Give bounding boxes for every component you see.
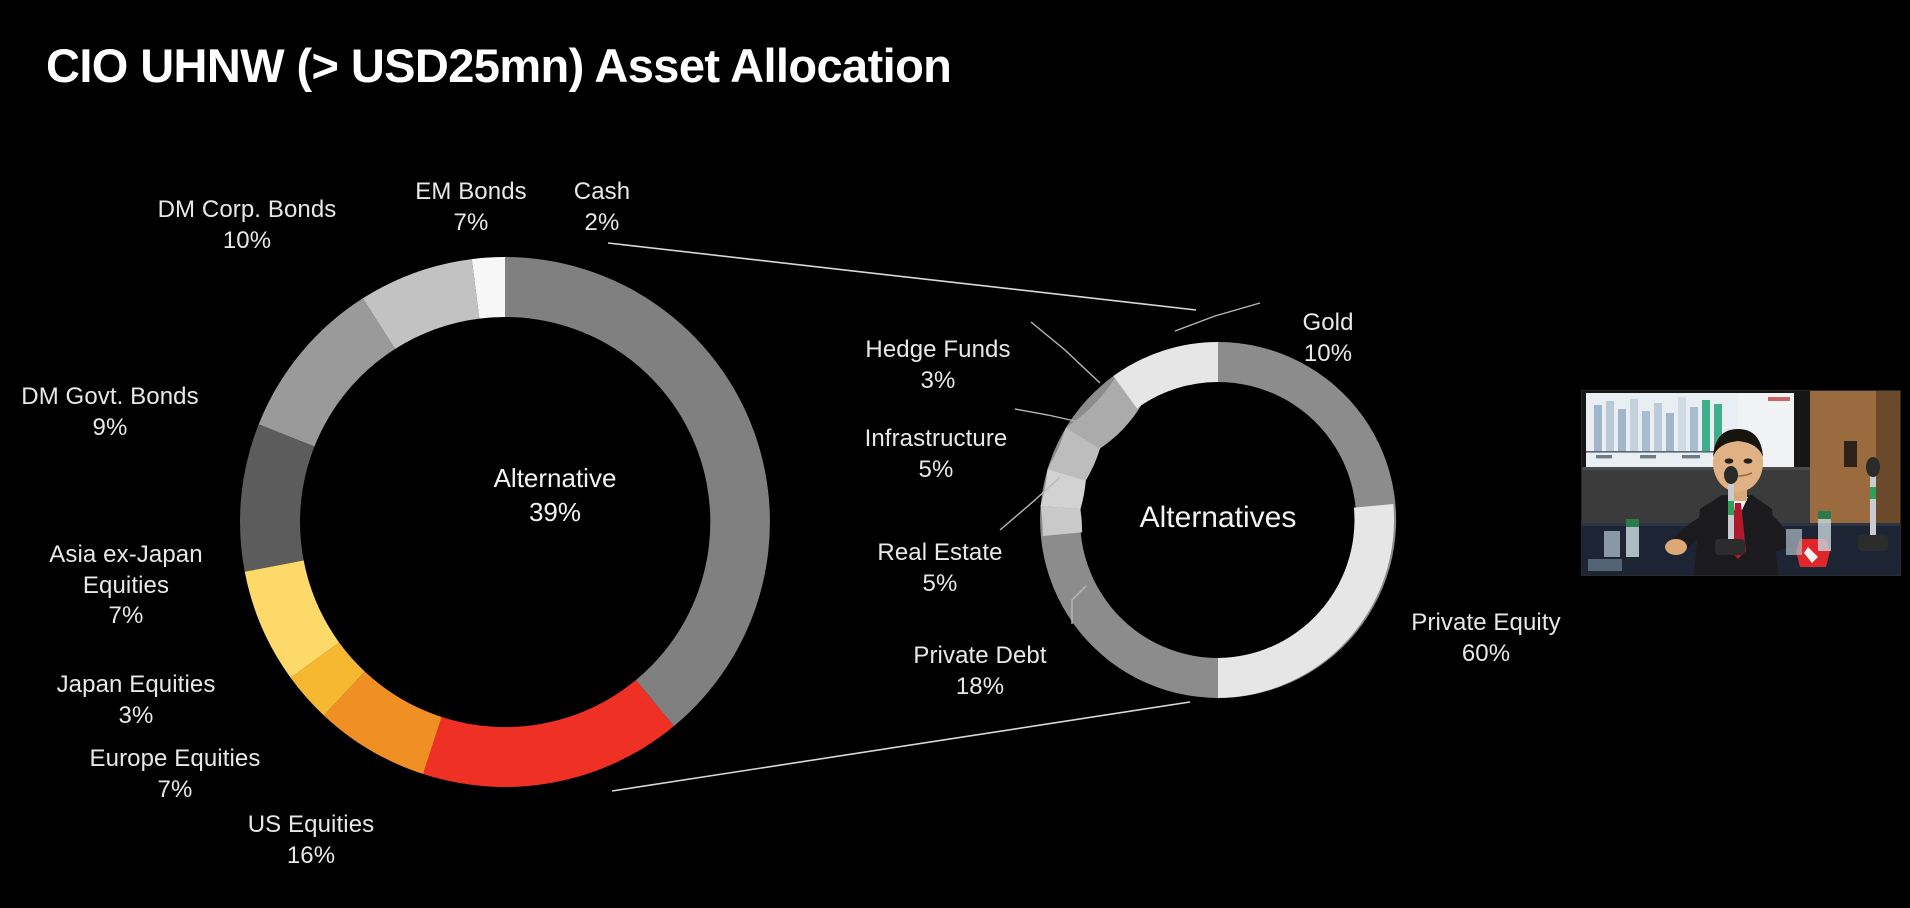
label-dm-govt-bonds-value: 9% <box>2 413 218 443</box>
label-private-equity: Private Equity 60% <box>1378 578 1594 700</box>
label-private-debt-name: Private Debt <box>913 642 1046 669</box>
label-cash: Cash 2% <box>552 147 652 269</box>
label-europe-equities-name: Europe Equities <box>90 745 261 772</box>
label-gold: Gold 10% <box>1268 278 1388 400</box>
label-dm-govt-bonds: DM Govt. Bonds 9% <box>2 352 218 474</box>
presentation-slide: CIO UHNW (> USD25mn) Asset Allocation <box>0 0 1910 908</box>
slice-dm-govt-bonds <box>240 424 314 571</box>
alternatives-donut-center-caption: Alternatives <box>1078 498 1358 537</box>
label-hedge-funds-name: Hedge Funds <box>865 336 1010 363</box>
slice-hedge-funds <box>1041 506 1083 536</box>
label-infrastructure: Infrastructure 5% <box>832 394 1040 516</box>
label-private-equity-name: Private Equity <box>1411 609 1560 636</box>
label-asia-ex-japan-equities-value: 7% <box>30 601 222 631</box>
label-private-debt-value: 18% <box>890 672 1070 702</box>
label-us-equities-value: 16% <box>228 841 394 871</box>
label-real-estate-name: Real Estate <box>877 539 1002 566</box>
label-real-estate-value: 5% <box>850 569 1030 599</box>
label-us-equities: US Equities 16% <box>228 780 394 902</box>
slice-dm-corp-bonds <box>259 298 395 446</box>
label-private-debt: Private Debt 18% <box>890 611 1070 733</box>
label-us-equities-name: US Equities <box>248 811 375 838</box>
label-cash-value: 2% <box>552 208 652 238</box>
label-dm-corp-bonds-value: 10% <box>132 226 362 256</box>
center-label-alternative: Alternative <box>494 463 617 493</box>
label-dm-corp-bonds-name: DM Corp. Bonds <box>158 196 337 223</box>
label-hedge-funds-value: 3% <box>838 366 1038 396</box>
main-donut-center-caption: Alternative 39% <box>400 462 710 530</box>
label-em-bonds-name: EM Bonds <box>415 178 527 205</box>
label-em-bonds-value: 7% <box>396 208 546 238</box>
label-em-bonds: EM Bonds 7% <box>396 147 546 269</box>
label-cash-name: Cash <box>574 178 630 205</box>
label-asia-ex-japan-equities-name: Asia ex-Japan Equities <box>49 541 202 598</box>
label-japan-equities-name: Japan Equities <box>57 671 216 698</box>
speaker-video-overlay[interactable] <box>1581 390 1901 576</box>
label-gold-value: 10% <box>1268 339 1388 369</box>
label-dm-corp-bonds: DM Corp. Bonds 10% <box>132 165 362 287</box>
label-infrastructure-value: 5% <box>832 455 1040 485</box>
label-infrastructure-name: Infrastructure <box>865 425 1008 452</box>
center-label-alternatives: Alternatives <box>1140 501 1297 534</box>
label-private-equity-value: 60% <box>1378 639 1594 669</box>
speaker-video-frame <box>1582 391 1900 575</box>
slice-us-equities <box>423 680 674 787</box>
label-dm-govt-bonds-name: DM Govt. Bonds <box>21 383 198 410</box>
page-title: CIO UHNW (> USD25mn) Asset Allocation <box>46 38 951 93</box>
label-gold-name: Gold <box>1302 309 1353 336</box>
center-value-alternative: 39% <box>529 497 581 527</box>
